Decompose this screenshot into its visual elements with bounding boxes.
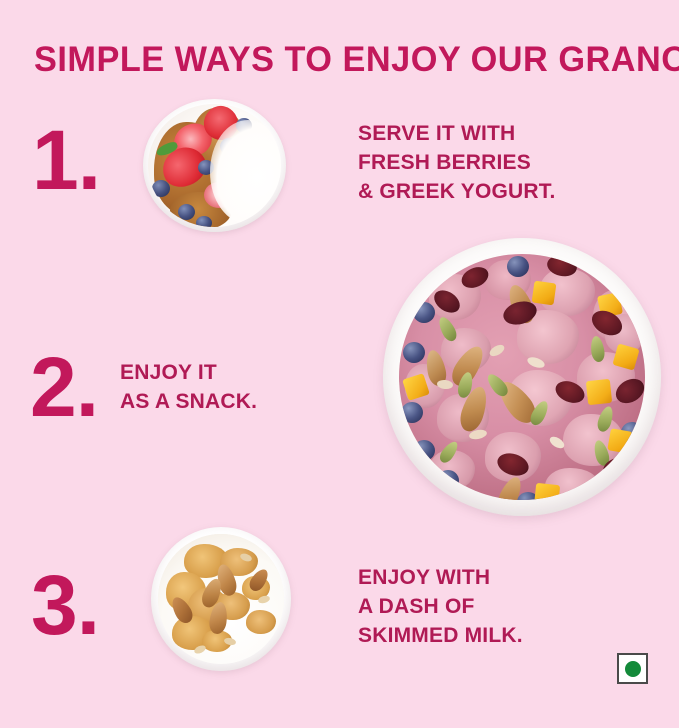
bowl-2-rim (399, 254, 645, 500)
vegetarian-mark-icon (617, 653, 648, 684)
step-caption-1: SERVE IT WITH FRESH BERRIES & GREEK YOGU… (358, 119, 555, 206)
page-title: SIMPLE WAYS TO ENJOY OUR GRANOLA (34, 40, 642, 80)
blueberry (152, 180, 170, 197)
mango-cube (532, 281, 557, 306)
mango-cube (586, 379, 612, 405)
blueberry (413, 440, 435, 461)
bowl-2-contents (399, 254, 645, 500)
bowl-3-contents (158, 534, 284, 664)
granola-poster: SIMPLE WAYS TO ENJOY OUR GRANOLA 1. SERV… (0, 0, 679, 728)
granola-cluster (246, 610, 276, 634)
yogurt-swirl (210, 120, 281, 224)
step-number-2: 2. (30, 345, 98, 429)
mango-cube (607, 428, 632, 453)
blueberry (401, 402, 423, 423)
blueberry (413, 302, 435, 323)
blueberry (403, 342, 425, 363)
bowl-1-contents (148, 104, 281, 227)
step-caption-2: ENJOY IT AS A SNACK. (120, 358, 257, 416)
vegetarian-mark-dot (625, 661, 641, 677)
step-number-1: 1. (32, 118, 100, 202)
granola-milk-bowl-image (151, 527, 291, 671)
blueberry (178, 204, 195, 220)
yogurt-berries-bowl-image (143, 99, 286, 232)
step-caption-3: ENJOY WITH A DASH OF SKIMMED MILK. (358, 563, 523, 650)
blueberry (437, 470, 459, 491)
pink-granola-bowl-image (383, 238, 661, 516)
blueberry (196, 216, 212, 227)
step-number-3: 3. (31, 563, 99, 647)
blueberry (507, 256, 529, 277)
